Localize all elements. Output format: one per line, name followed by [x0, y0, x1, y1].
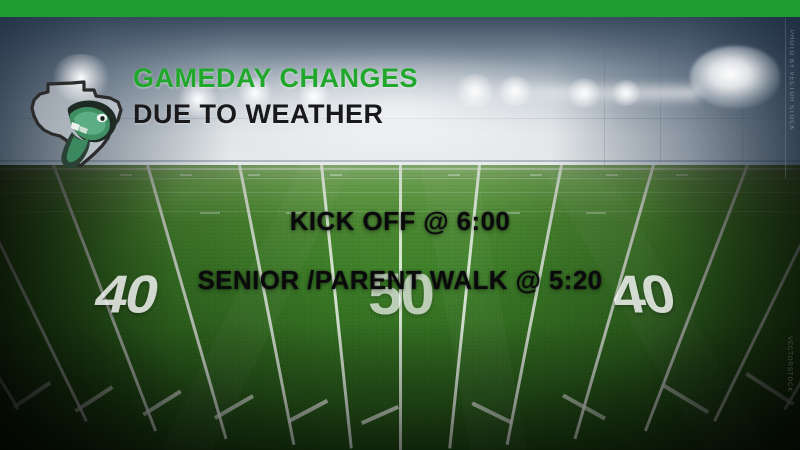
top-accent-bar: [0, 0, 800, 17]
stadium-floodlight: [690, 46, 780, 108]
schedule-info-block: KICK OFF @ 6:00 SENIOR /PARENT WALK @ 5:…: [0, 206, 800, 295]
page-title: GAMEDAY CHANGES: [133, 64, 418, 93]
info-line-senior-parent-walk: SENIOR /PARENT WALK @ 5:20: [0, 265, 800, 295]
watermark-rule: [785, 18, 786, 178]
info-line-kickoff: KICK OFF @ 6:00: [0, 206, 800, 236]
headline-block: GAMEDAY CHANGES DUE TO WEATHER: [133, 64, 418, 129]
mascot-pupil: [100, 116, 104, 121]
watermark-top: PHOTO BY VECTOR STOCK: [788, 30, 794, 131]
page-subtitle: DUE TO WEATHER: [133, 100, 418, 129]
gameday-changes-graphic: PHOTO BY VECTOR STOCK: [0, 0, 800, 450]
stadium-light-beam: [460, 86, 700, 100]
watermark-bottom: VECTORSTOCK: [786, 336, 792, 392]
school-logo: [22, 62, 134, 174]
